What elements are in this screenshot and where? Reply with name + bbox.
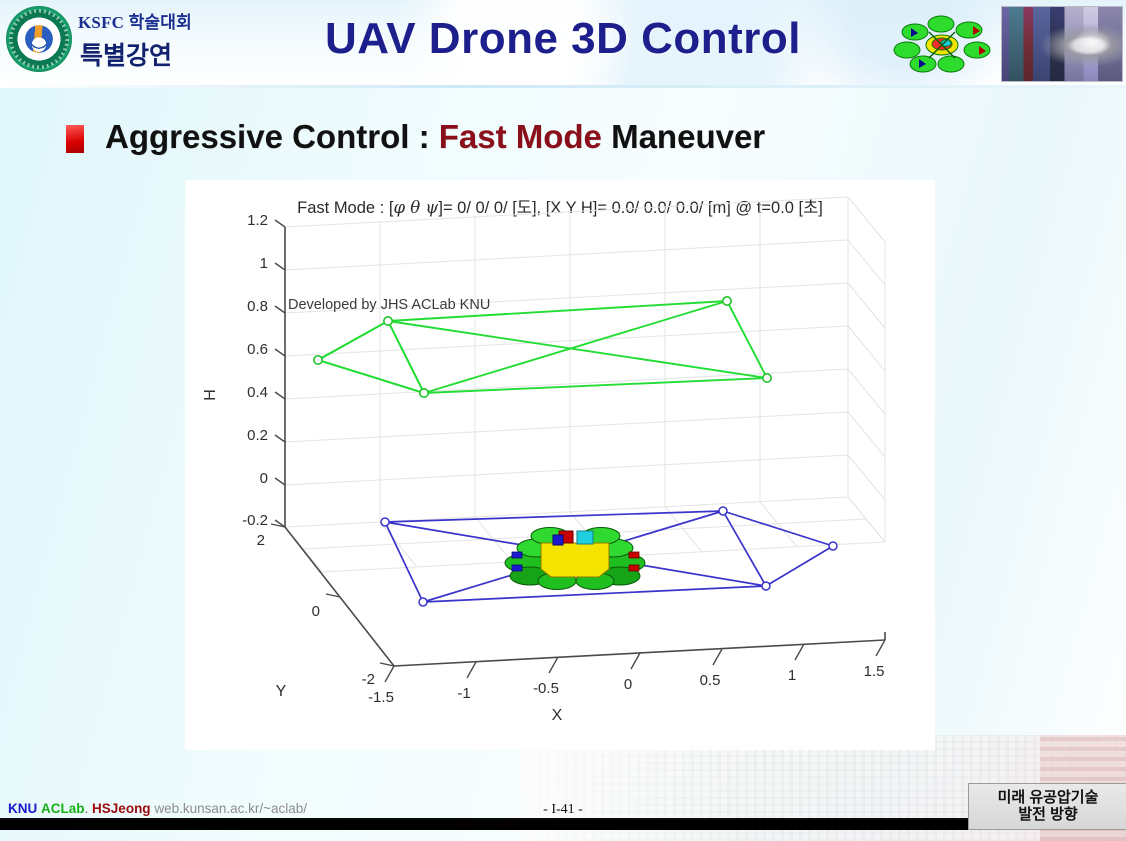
x-tick-label: -0.5: [533, 680, 559, 697]
axes-3d: 1.2 1 0.8 0.6 0.4 0.2 0 -0.2 H 2 0 -2: [185, 180, 935, 750]
h-tick-label: 0.2: [247, 427, 268, 444]
h-tick-label: 0: [260, 470, 268, 487]
x-tick-label: 1.5: [864, 663, 885, 680]
hardware-photo: [1001, 6, 1123, 82]
data-point: [762, 582, 770, 590]
x-tick-label: -1.5: [368, 689, 394, 706]
x-tick-label: 0.5: [700, 672, 721, 689]
corner-line-2: 발전 방향: [1018, 807, 1077, 823]
h-tick-label: -0.2: [242, 512, 268, 529]
x-axis-label: X: [552, 707, 563, 724]
data-point: [314, 356, 322, 364]
drone-flower-icon: [889, 12, 999, 76]
data-point: [381, 518, 389, 526]
x-axis-ticks: -1.5 -1 -0.5 0 0.5 1 1.5 X: [368, 640, 885, 724]
x-tick-label: 0: [624, 676, 632, 693]
footer-black-bar: [0, 820, 1126, 830]
photo-highlight: [1072, 29, 1113, 56]
h-tick-label: 1: [260, 255, 268, 272]
data-point: [763, 374, 771, 382]
heading-prefix: Aggressive Control :: [105, 118, 439, 155]
y-axis-label: Y: [276, 683, 287, 700]
h-tick-label: 0.6: [247, 341, 268, 358]
h-tick-label: 0.8: [247, 298, 268, 315]
y-axis-ticks: 2 0 -2 Y: [257, 524, 394, 700]
plot-figure: Fast Mode : [φ θ ψ]= 0/ 0/ 0/ [도], [X Y …: [185, 180, 935, 750]
data-point: [829, 542, 837, 550]
x-tick-label: 1: [788, 667, 796, 684]
bullet-marker-icon: [66, 125, 84, 153]
data-point: [420, 389, 428, 397]
h-tick-label: 1.2: [247, 212, 268, 229]
data-point: [719, 507, 727, 515]
x-tick-label: -1: [457, 685, 470, 702]
slide-canvas: KSFC 학술대회 특별강연 UAV Drone 3D Control: [0, 0, 1126, 841]
h-axis-label: H: [202, 389, 219, 401]
data-point: [419, 598, 427, 606]
y-tick-label: -2: [362, 671, 375, 688]
data-point: [723, 297, 731, 305]
page-number: - I-41 -: [0, 802, 1126, 818]
heading-suffix: Maneuver: [602, 118, 765, 155]
section-heading: Aggressive Control : Fast Mode Maneuver: [105, 118, 765, 156]
data-point: [384, 317, 392, 325]
y-tick-label: 2: [257, 532, 265, 549]
plot-annotation: Developed by JHS ACLab KNU: [288, 297, 490, 313]
corner-theme-box: 미래 유공압기술 발전 방향: [968, 783, 1126, 830]
h-tick-label: 0.4: [247, 384, 268, 401]
h-axis-ticks: 1.2 1 0.8 0.6 0.4 0.2 0 -0.2 H: [202, 212, 285, 529]
axis-spines: [285, 227, 885, 666]
heading-accent: Fast Mode: [439, 118, 602, 155]
y-tick-label: 0: [312, 603, 320, 620]
corner-line-1: 미래 유공압기술: [998, 790, 1099, 806]
slide-header: KSFC 학술대회 특별강연 UAV Drone 3D Control: [0, 0, 1126, 88]
